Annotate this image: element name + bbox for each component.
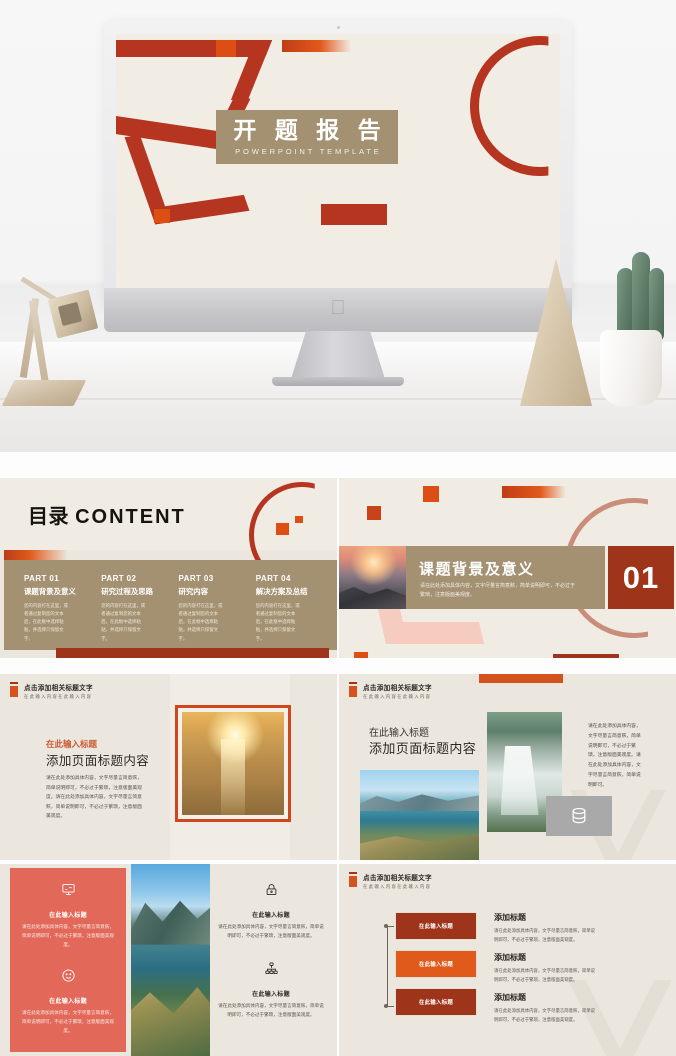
cactus-stem-center [632,252,650,342]
slide4-image-frame [175,705,291,822]
slide4-header: 点击添加相关标题文字 在此输入内容在此输入内容 [10,682,93,700]
presentation-icon [22,882,114,902]
slide1-title-block: 开 题 报 告 POWERPOINT TEMPLATE [216,110,398,164]
feature-desc: 请在此处添加具体内容，文字尽量言简意赅，简单说明即可，不必过于繁琐，注意版面美观… [216,1002,326,1020]
slide7-connector-tick-top [387,926,394,927]
slide-multi-image[interactable]: 点击添加相关标题文字 在此输入内容在此输入内容 在此输入标题 添加页面标题内容 … [339,674,676,860]
toc-title: 目录 CONTENT [28,500,186,529]
slide-process-list[interactable]: 点击添加相关标题文字 在此输入内容在此输入内容 在此输入标题 在此输入标题 在此… [339,864,676,1056]
process-button-2[interactable]: 在此输入标题 [395,950,477,978]
feature-title: 在此输入标题 [22,996,114,1005]
slide1-title-cn: 开 题 报 告 [227,118,386,142]
section-square-2 [367,506,381,520]
slide1-title-en: POWERPOINT TEMPLATE [232,147,381,156]
imac-stand-foot [272,377,404,386]
toc-part-number: PART 04 [256,574,327,583]
process-item-3[interactable]: 添加标题 请在此处添加具体内容，文字尽量言简意赅，简单说明即可，不必过于繁琐，注… [494,992,596,1024]
toc-square-small [295,516,303,523]
process-item-title: 添加标题 [494,992,596,1003]
section-heading: 课题背景及意义 [419,558,535,579]
header-mark-icon [349,682,357,700]
feature-desc: 请在此处添加具体内容，文字尽量言简意赅，简单说明即可，不必过于繁琐，注意版面美观… [216,923,326,941]
preview-page: 开 题 报 告 POWERPOINT TEMPLATE  [0,0,676,1056]
slide6-coral-card: 在此输入标题 请在此处添加具体内容，文字尽量言简意赅，简单说明即可，不必过于繁琐… [10,868,126,1052]
header-mark-icon [349,872,357,890]
slide1-gradient-bar [282,40,352,52]
process-button-3[interactable]: 在此输入标题 [395,988,477,1016]
imac-mockup-scene: 开 题 报 告 POWERPOINT TEMPLATE  [0,0,676,452]
toc-part-number: PART 01 [24,574,95,583]
slide-section-01[interactable]: 课题背景及意义 请在此处添加具体内容，文字尽量言简意赅，简单说明即可，不必过于繁… [339,478,676,658]
section-square-4 [354,652,368,658]
slide7-connector-tick-bottom [387,1006,394,1007]
header-mark-icon [10,682,18,700]
slide7-button-list: 在此输入标题 在此输入标题 在此输入标题 [395,912,477,1026]
slide5-title: 添加页面标题内容 [369,738,476,757]
slide1-square-c [154,209,170,223]
slide6-right-column: 在此输入标题 请在此处添加具体内容，文字尽量言简意赅，简单说明即可，不必过于繁琐… [216,882,326,1020]
feature-cell-3[interactable]: 在此输入标题 请在此处添加具体内容，文字尽量言简意赅，简单说明即可，不必过于繁琐… [216,882,326,941]
toc-part-desc: 您的内容打在这里，或者通过复制您的文本后，在此框中选择粘贴，并选择只保留文字。 [101,602,147,643]
slide1-square-a [216,40,236,57]
feature-cell-2[interactable]: 在此输入标题 请在此处添加具体内容，文字尽量言简意赅，简单说明即可，不必过于繁琐… [22,968,114,1036]
slide-content-toc[interactable]: 目录 CONTENT PART 01 课题背景及意义 您的内容打在这里，或者通过… [0,478,337,658]
toc-title-en: CONTENT [75,506,186,528]
lock-icon [216,882,326,902]
toc-part-2[interactable]: PART 02 研究过程及思路 您的内容打在这里，或者通过复制您的文本后，在此框… [101,574,172,643]
toc-part-number: PART 03 [179,574,250,583]
slide-text-image-right[interactable]: 点击添加相关标题文字 在此输入内容在此输入内容 在此输入标题 添加页面标题内容 … [0,674,337,860]
slide5-body: 请在此处添加具体内容，文字尽量言简意赅，简单说明即可，不必过于繁琐，注意版面美观… [588,722,644,791]
toc-columns: PART 01 课题背景及意义 您的内容打在这里，或者通过复制您的文本后，在此框… [24,574,327,643]
toc-part-name: 研究过程及思路 [101,586,172,597]
process-button-1[interactable]: 在此输入标题 [395,912,477,940]
imac-frame: 开 题 报 告 POWERPOINT TEMPLATE [104,20,572,307]
hierarchy-icon [216,961,326,981]
slide1-square-d [321,204,387,225]
header-title: 点击添加相关标题文字 [363,682,432,692]
lamp-base [2,380,87,406]
section-description: 请在此处添加具体内容，文字尽量言简意赅，简单说明即可，不必过于繁琐，注意版面美观… [420,582,578,599]
toc-part-name: 解决方案及总结 [256,586,327,597]
header-subtitle: 在此输入内容在此输入内容 [24,694,93,700]
process-item-desc: 请在此处添加具体内容，文字尽量言简意赅，简单说明即可，不必过于繁琐，注意版面美观… [494,967,596,984]
toc-accent-tab [4,550,68,560]
toc-part-desc: 您的内容打在这里，或者通过复制您的文本后，在此框中选择粘贴，并选择只保留文字。 [24,602,70,643]
header-title: 点击添加相关标题文字 [363,872,432,882]
webcam-dot [337,26,340,29]
slide4-body: 请在此处添加具体内容，文字尽量言简意赅，简单说明即可，不必过于繁琐，注意版面美观… [46,774,146,822]
database-icon [569,806,589,826]
feature-cell-4[interactable]: 在此输入标题 请在此处添加具体内容，文字尽量言简意赅，简单说明即可，不必过于繁琐… [216,961,326,1020]
section-mountain-photo [339,546,406,609]
toc-part-name: 研究内容 [179,586,250,597]
section-number-box: 01 [608,546,674,609]
toc-part-desc: 您的内容打在这里，或者通过复制您的文本后，在此框中选择粘贴，并选择只保留文字。 [179,602,225,643]
smiley-icon [22,968,114,988]
feature-cell-1[interactable]: 在此输入标题 请在此处添加具体内容，文字尽量言简意赅，简单说明即可，不必过于繁琐… [22,882,114,950]
process-item-title: 添加标题 [494,952,596,963]
feature-title: 在此输入标题 [216,910,326,919]
imac-screen: 开 题 报 告 POWERPOINT TEMPLATE [116,34,560,289]
header-subtitle: 在此输入内容在此输入内容 [363,884,432,890]
section-gradient-bar [502,486,566,498]
toc-part-3[interactable]: PART 03 研究内容 您的内容打在这里，或者通过复制您的文本后，在此框中选择… [179,574,250,643]
slide5-image-placeholder[interactable] [546,796,612,836]
slide4-title: 添加页面标题内容 [46,750,149,769]
toc-title-cn: 目录 [28,506,69,528]
toc-part-1[interactable]: PART 01 课题背景及意义 您的内容打在这里，或者通过复制您的文本后，在此框… [24,574,95,643]
slide6-coast-photo [131,864,210,1056]
section-square-6 [553,654,619,658]
slide-row-4: 在此输入标题 请在此处添加具体内容，文字尽量言简意赅，简单说明即可，不必过于繁琐… [0,864,676,1056]
toc-part-4[interactable]: PART 04 解决方案及总结 您的内容打在这里，或者通过复制您的文本后，在此框… [256,574,327,643]
cactus-pot [600,330,662,406]
imac-stand-neck [291,331,385,379]
slide5-kicker: 在此输入标题 [369,724,429,739]
header-title: 点击添加相关标题文字 [24,682,93,692]
process-item-desc: 请在此处添加具体内容，文字尽量言简意赅，简单说明即可，不必过于繁琐，注意版面美观… [494,927,596,944]
slide4-sunset-sea-photo [182,712,284,815]
header-subtitle: 在此输入内容在此输入内容 [363,694,432,700]
section-square-1 [423,486,439,502]
slide5-header: 点击添加相关标题文字 在此输入内容在此输入内容 [349,682,432,700]
feature-desc: 请在此处添加具体内容，文字尽量言简意赅，简单说明即可，不必过于繁琐，注意版面美观… [22,1009,114,1036]
slide7-connector-line [387,926,388,1006]
slide-row-3: 点击添加相关标题文字 在此输入内容在此输入内容 在此输入标题 添加页面标题内容 … [0,674,676,860]
feature-title: 在此输入标题 [216,989,326,998]
feature-title: 在此输入标题 [22,910,114,919]
process-item-desc: 请在此处添加具体内容，文字尽量言简意赅，简单说明即可，不必过于繁琐，注意版面美观… [494,1007,596,1024]
toc-part-name: 课题背景及意义 [24,586,95,597]
process-item-1[interactable]: 添加标题 请在此处添加具体内容，文字尽量言简意赅，简单说明即可，不必过于繁琐，注… [494,912,596,944]
slide5-top-orange-bar [479,674,563,683]
section-number: 01 [623,560,659,596]
toc-square-large [276,523,289,535]
slide7-header: 点击添加相关标题文字 在此输入内容在此输入内容 [349,872,432,890]
slide4-kicker: 在此输入标题 [46,738,97,750]
slide5-coast-photo [360,770,479,860]
toc-bottom-bar [56,648,329,658]
process-item-2[interactable]: 添加标题 请在此处添加具体内容，文字尽量言简意赅，简单说明即可，不必过于繁琐，注… [494,952,596,984]
feature-desc: 请在此处添加具体内容，文字尽量言简意赅，简单说明即可，不必过于繁琐，注意版面美观… [22,923,114,950]
apple-logo-icon:  [329,297,347,319]
toc-part-number: PART 02 [101,574,172,583]
toc-part-desc: 您的内容打在这里，或者通过复制您的文本后，在此框中选择粘贴，并选择只保留文字。 [256,602,302,643]
slide-four-features[interactable]: 在此输入标题 请在此处添加具体内容，文字尽量言简意赅，简单说明即可，不必过于繁琐… [0,864,337,1056]
process-item-title: 添加标题 [494,912,596,923]
slide-row-2: 目录 CONTENT PART 01 课题背景及意义 您的内容打在这里，或者通过… [0,478,676,658]
